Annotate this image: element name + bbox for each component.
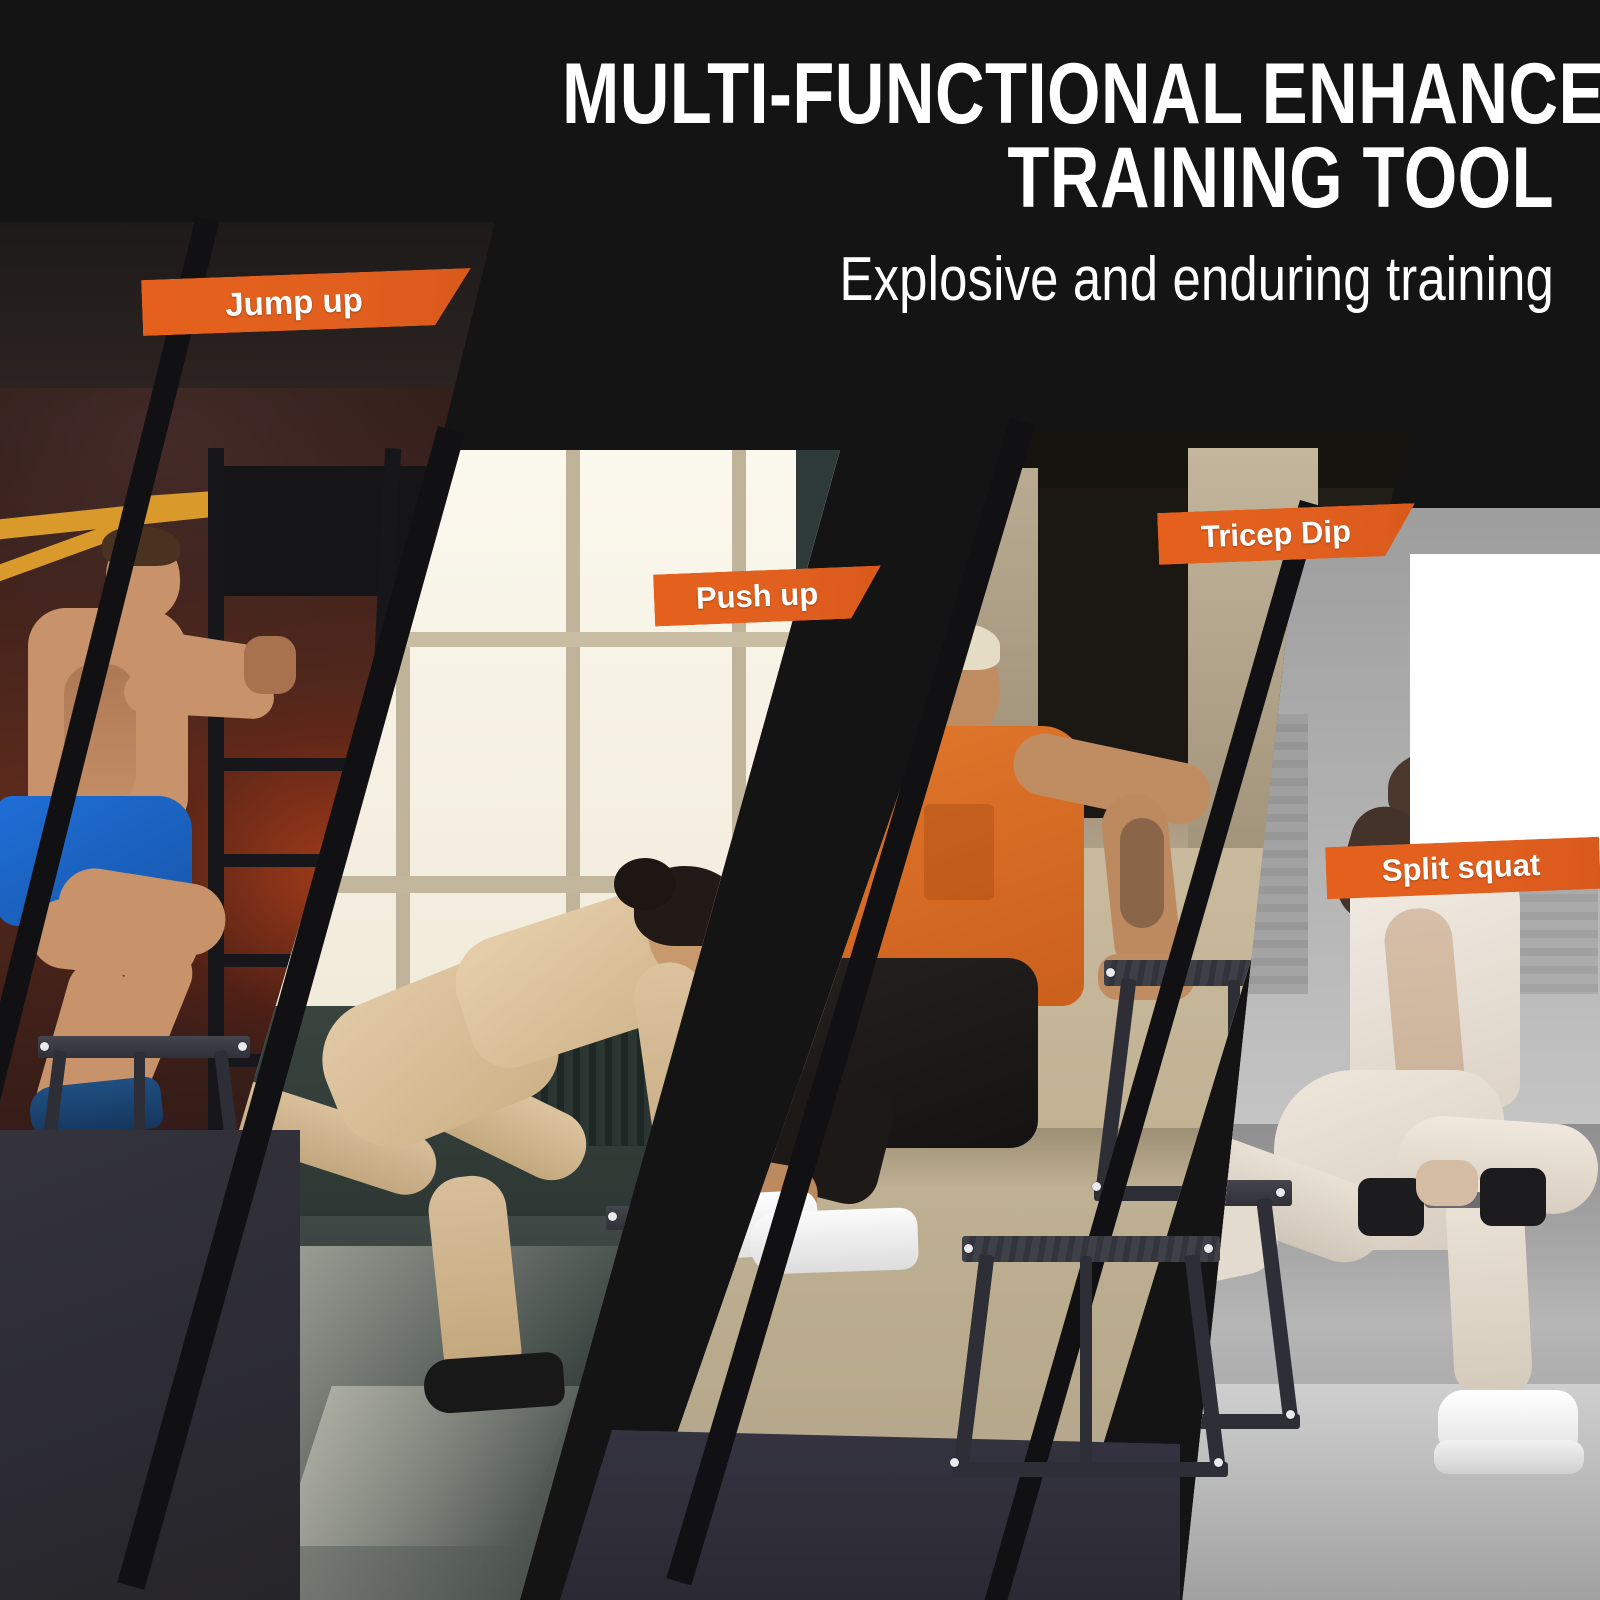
badge-split-squat-label: Split squat <box>1381 847 1541 889</box>
photo-highlight-plate <box>1410 554 1600 884</box>
dumbbell <box>1480 1168 1546 1226</box>
badge-split-squat[interactable]: Split squat <box>1325 837 1600 899</box>
headline-block: MULTI-FUNCTIONAL ENHANCED TRAINING TOOL … <box>314 52 1554 312</box>
badge-jump-up-label: Jump up <box>225 281 364 324</box>
athlete-tattoo <box>1120 818 1164 928</box>
athlete-shoe <box>422 1351 565 1415</box>
badge-tricep-dip[interactable]: Tricep Dip <box>1157 503 1417 565</box>
athlete-shoe <box>1434 1440 1584 1474</box>
title-line-1: MULTI-FUNCTIONAL ENHANCED <box>562 46 1600 142</box>
athlete-hair <box>614 858 676 910</box>
page-title: MULTI-FUNCTIONAL ENHANCED TRAINING TOOL <box>562 52 1554 221</box>
product-feature-poster: Jump up Push up Tricep Dip Split squat M… <box>0 0 1600 1600</box>
badge-tricep-dip-label: Tricep Dip <box>1200 514 1351 556</box>
title-line-2: TRAINING TOOL <box>562 136 1554 220</box>
page-subtitle: Explosive and enduring training <box>537 247 1554 312</box>
plyo-box-center-bottom <box>946 1236 1226 1486</box>
badge-push-up[interactable]: Push up <box>653 565 883 626</box>
athlete-tricep-dip <box>728 598 1288 1298</box>
dumbbell <box>1358 1178 1424 1236</box>
badge-push-up-label: Push up <box>695 576 819 617</box>
